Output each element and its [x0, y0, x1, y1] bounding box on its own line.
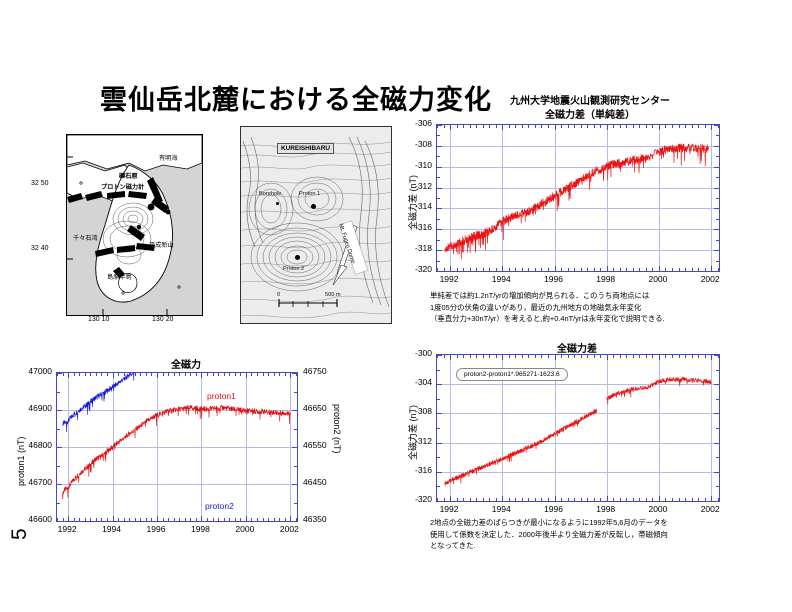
proton2-label: Proton 2: [283, 266, 304, 272]
map-lon-right-label: 130 20: [152, 316, 173, 323]
y-axis-right-tick-label: 46550: [303, 440, 327, 450]
scaled-diff-caption-line2: 使用して係数を決定した．2000年後半より全磁力差が反転し，帯磁傾向: [430, 529, 668, 541]
borehole-label: Borehole: [259, 191, 281, 197]
scale-bar-left-label: 0: [277, 292, 280, 298]
y-axis-tick-label: -320: [396, 264, 432, 274]
y-minor-tick: [57, 521, 60, 522]
y-axis-tick-label: -308: [396, 139, 432, 149]
x-axis-tick-label: 1998: [586, 504, 626, 514]
scaled-diff-caption-line1: 2地点の全磁力差のばらつきが最小になるように1992年5,6月のデータを: [430, 517, 668, 529]
simple-diff-caption-line3: （垂直分力+30nT/yr）を考えると,約+0.4nT/yrは永年変化で説明でき…: [430, 313, 665, 325]
x-axis-tick-label: 2002: [690, 274, 730, 284]
simple-diff-series: [437, 125, 719, 271]
y-axis-right-tick-label: 46350: [303, 514, 327, 524]
simple-diff-plot-area: [436, 124, 720, 272]
y-axis-tick-label: 46600: [16, 514, 52, 524]
y-axis-tick-label: -314: [396, 201, 432, 211]
x-axis-tick-label: 2002: [269, 524, 309, 534]
map-lat-top-label: 32 50: [31, 180, 49, 187]
x-axis-tick-label: 2000: [225, 524, 265, 534]
map-label-shimabara-peninsula: 島原半島: [107, 272, 132, 281]
x-axis-tick-label: 2000: [638, 504, 678, 514]
y-axis-tick-label: -306: [396, 118, 432, 128]
proton1-marker: [311, 204, 316, 209]
x-axis-tick-label: 1996: [534, 504, 574, 514]
y-tick-mark: [57, 521, 62, 522]
series-label-proton1: proton1: [207, 391, 236, 401]
x-axis-tick-label: 1996: [136, 524, 176, 534]
y-minor-tick: [716, 271, 719, 272]
y-tick-mark: [292, 521, 297, 522]
x-axis-tick-label: 1994: [92, 524, 132, 534]
proton2-marker: [295, 255, 300, 260]
y-tick-mark: [437, 271, 442, 272]
map-label-proton-magnetometer: プロトン磁力計: [101, 182, 144, 191]
y-axis-tick-label: -316: [396, 222, 432, 232]
y-axis-right-tick-label: 46450: [303, 477, 327, 487]
x-axis-tick-label: 1994: [481, 274, 521, 284]
x-axis-tick-label: 2002: [690, 504, 730, 514]
simple-diff-header-line2: 全磁力差（単純差）: [440, 106, 740, 121]
borehole-marker: [276, 202, 279, 205]
map-label-chijiwa-bay: 千々石湾: [73, 233, 98, 242]
map-label-kureishibaru: 礫石原: [119, 171, 138, 180]
x-axis-tick-label: 1992: [429, 274, 469, 284]
x-axis-tick-label: 1996: [534, 274, 574, 284]
x-axis-tick-label: 1992: [47, 524, 87, 534]
y-axis-tick-label: 46900: [16, 403, 52, 413]
y-axis-right-tick-label: 46750: [303, 366, 327, 376]
simple-diff-header-line1: 九州大学地震火山観測研究センター: [440, 92, 740, 107]
y-axis-tick-label: 46700: [16, 477, 52, 487]
y-axis-tick-label: -304: [396, 377, 432, 387]
y-minor-tick: [716, 501, 719, 502]
map-lat-bottom-label: 32 40: [31, 245, 49, 252]
y-minor-tick: [294, 521, 297, 522]
total-field-right-axis-label: proton2 (nT): [332, 404, 342, 454]
topo-map-title: KUREISHIBARU: [277, 143, 334, 154]
simple-diff-caption-line2: 1度05分の伏角の違いがあり，最近の九州地方の地磁気永年変化: [430, 302, 641, 314]
kureishibaru-topographic-map: KUREISHIBARU Borehole Proton 1 Proton 2 …: [240, 126, 392, 324]
y-tick-mark: [714, 501, 719, 502]
y-minor-tick: [437, 271, 440, 272]
x-axis-tick-label: 2000: [638, 274, 678, 284]
x-axis-tick-label: 1994: [481, 504, 521, 514]
series-label-proton2: proton2: [205, 501, 234, 511]
y-axis-tick-label: -312: [396, 181, 432, 191]
y-axis-tick-label: -312: [396, 436, 432, 446]
simple-diff-caption-line1: 単純差では約1.2nT/yrの増加傾向が見られる．このうち両地点には: [430, 290, 649, 302]
scaled-diff-title: 全磁力差: [436, 340, 718, 355]
y-axis-right-tick-label: 46650: [303, 403, 327, 413]
y-minor-tick: [437, 501, 440, 502]
y-tick-mark: [714, 271, 719, 272]
total-field-title: 全磁力: [56, 356, 316, 371]
proton1-label: Proton 1: [299, 191, 320, 197]
y-axis-tick-label: -318: [396, 243, 432, 253]
scaled-diff-caption-line3: となってきた.: [430, 540, 476, 552]
y-axis-tick-label: -320: [396, 494, 432, 504]
total-field-series: [57, 373, 297, 521]
map-label-heisei-shinzan: 平成新山: [149, 240, 174, 249]
y-axis-tick-label: -310: [396, 160, 432, 170]
map-lon-left-label: 130 10: [88, 316, 109, 323]
y-tick-mark: [437, 501, 442, 502]
y-axis-tick-label: -300: [396, 348, 432, 358]
map-label-ariake: 有明海: [159, 153, 178, 162]
y-axis-tick-label: -308: [396, 406, 432, 416]
scaled-diff-annotation: proton2-proton1*.965271-1623.6: [456, 368, 568, 381]
y-axis-tick-label: 46800: [16, 440, 52, 450]
x-axis-tick-label: 1992: [429, 504, 469, 514]
total-field-plot-area: proton1proton2: [56, 372, 298, 522]
scale-bar-right-label: 500 m: [325, 292, 341, 298]
page-number: 5: [8, 528, 32, 540]
shimabara-peninsula-map: 有明海 礫石原 プロトン磁力計 千々石湾 平成新山 島原半島: [66, 134, 203, 316]
y-axis-tick-label: -316: [396, 465, 432, 475]
x-axis-tick-label: 1998: [180, 524, 220, 534]
y-axis-tick-label: 47000: [16, 366, 52, 376]
x-axis-tick-label: 1998: [586, 274, 626, 284]
